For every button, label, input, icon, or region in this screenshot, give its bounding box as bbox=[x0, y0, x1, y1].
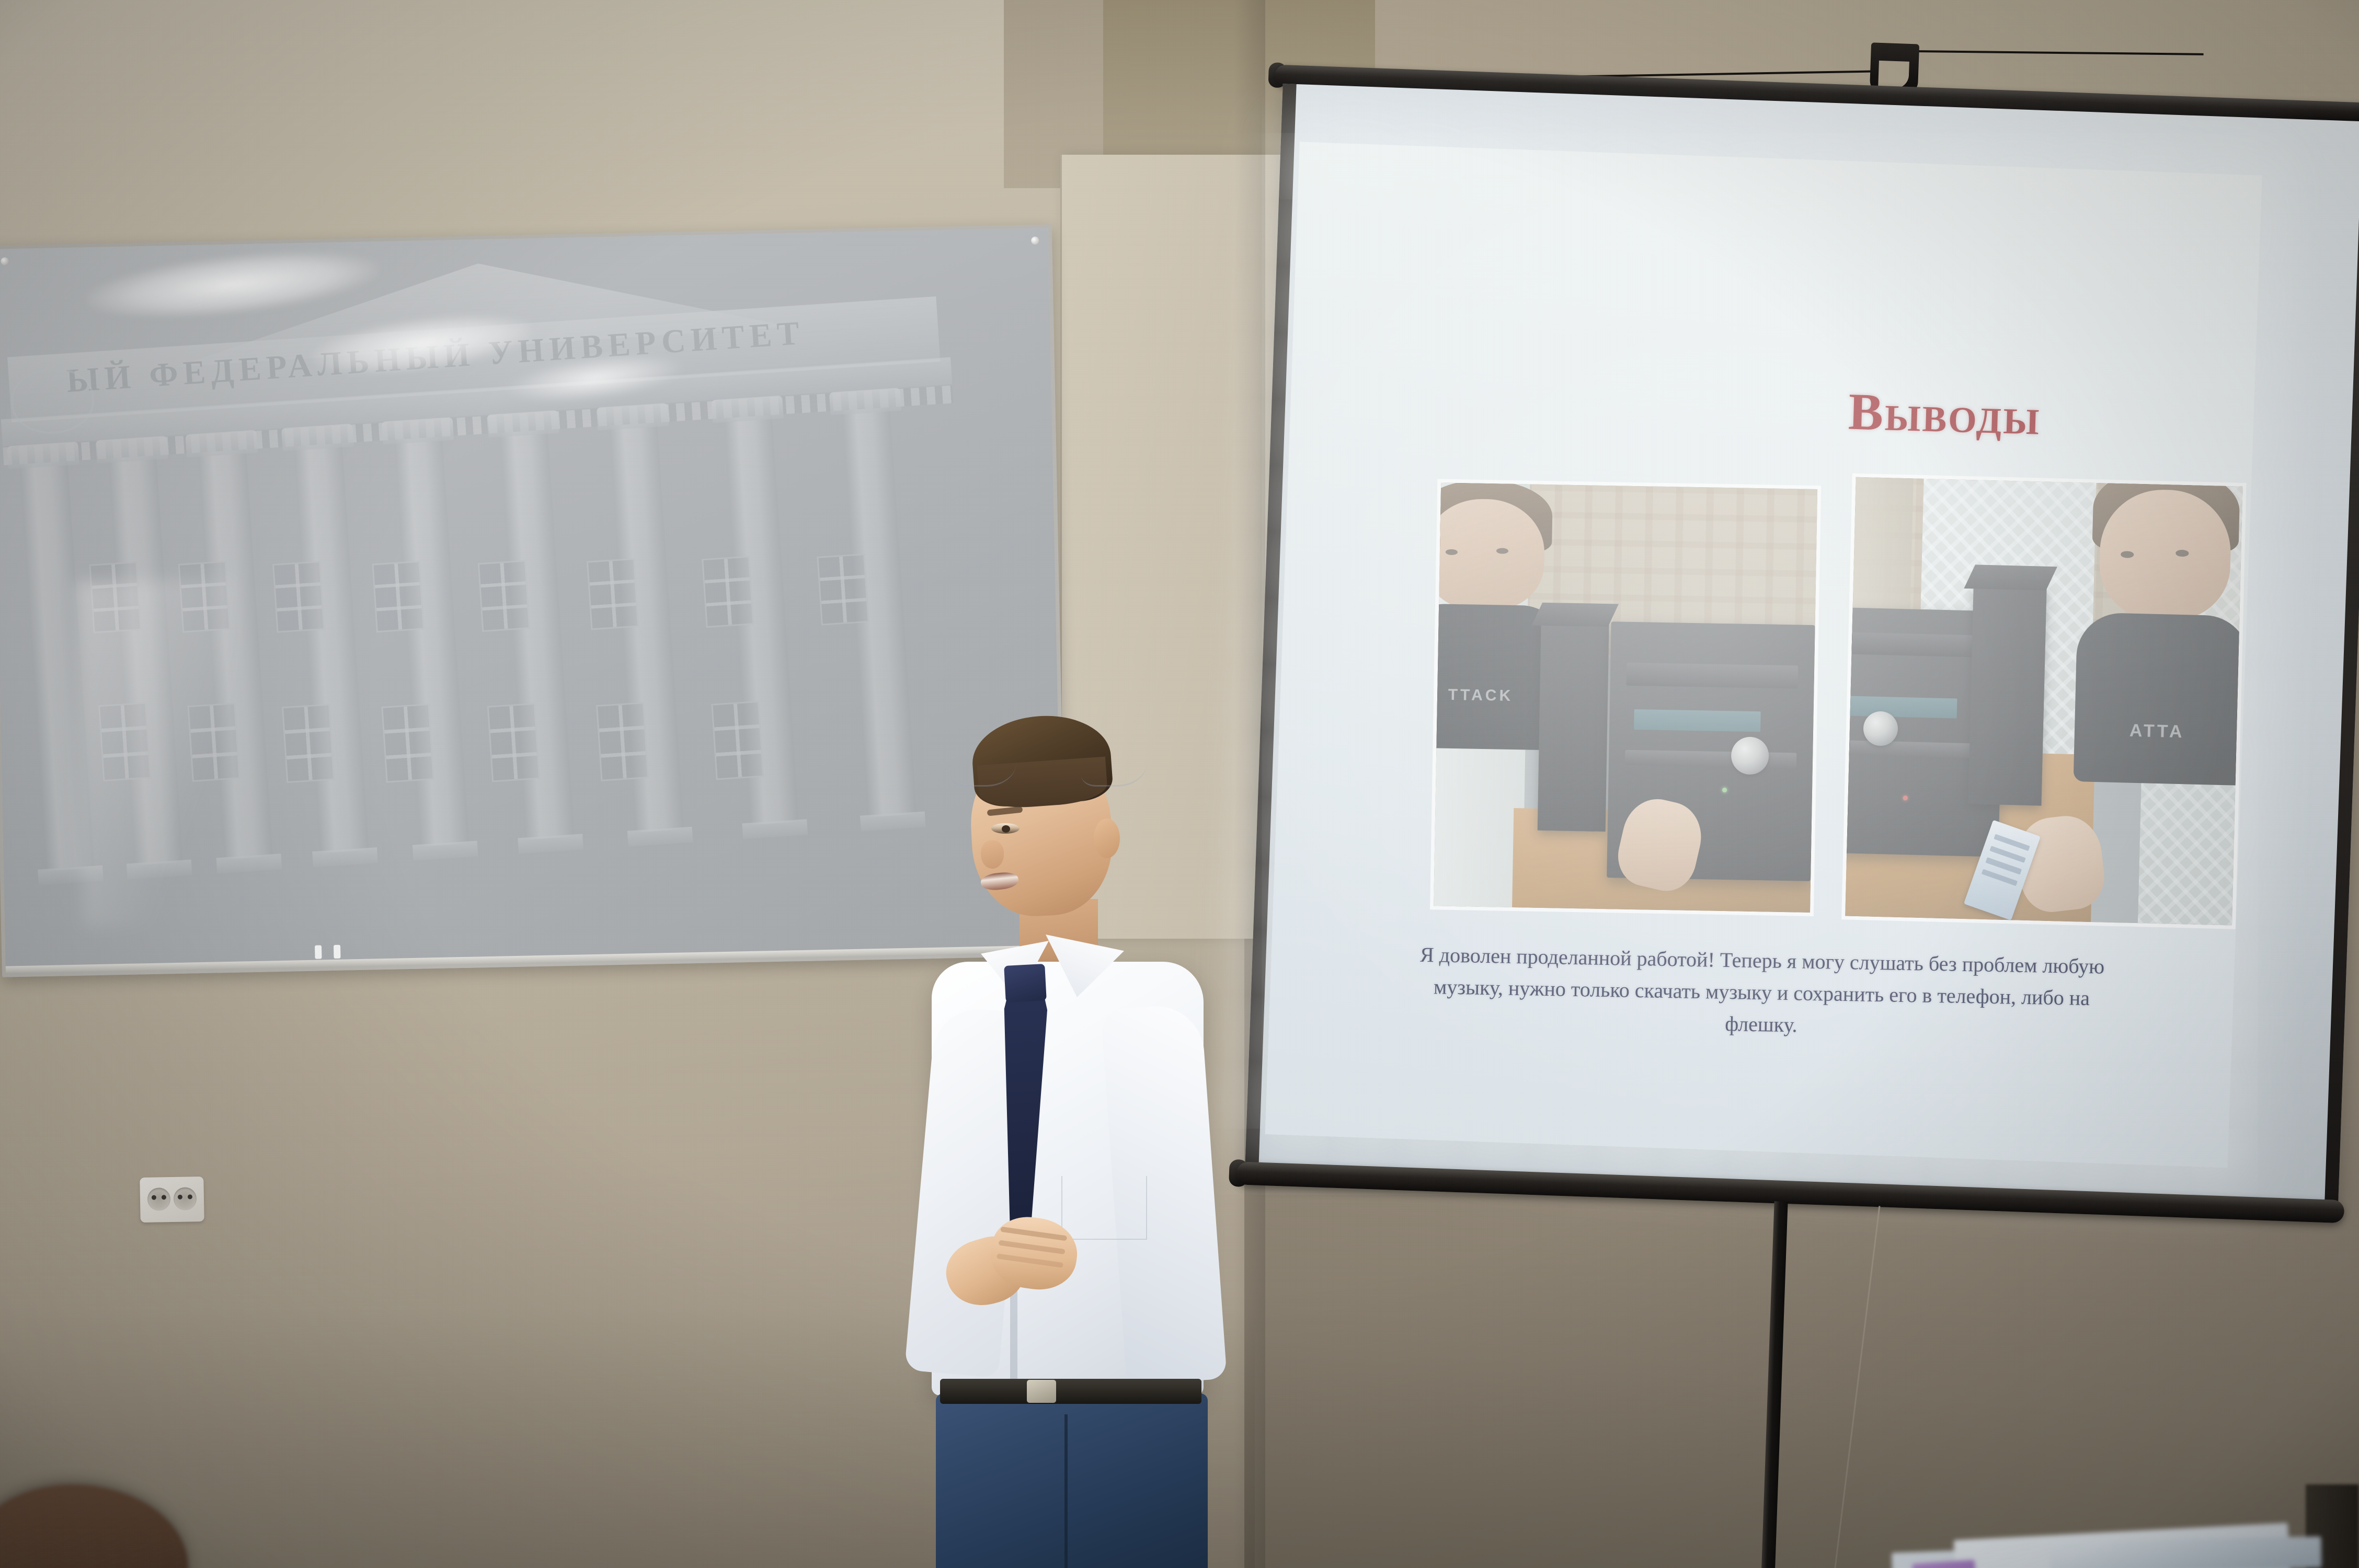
photo-stereo-knob bbox=[1731, 736, 1769, 775]
window bbox=[587, 558, 639, 630]
slide-photo-left: TTACK bbox=[1434, 482, 1817, 912]
window bbox=[478, 560, 530, 632]
presenter-eye bbox=[991, 823, 1020, 834]
photo-boy-eye bbox=[1446, 549, 1458, 555]
window bbox=[272, 561, 325, 633]
projected-slide: Выводы bbox=[1265, 142, 2262, 1168]
window bbox=[817, 554, 869, 626]
slide-photo-right: ATTA bbox=[1845, 477, 2242, 926]
window bbox=[711, 701, 764, 780]
socket-outlet[interactable] bbox=[147, 1187, 171, 1211]
presenter bbox=[889, 716, 1223, 1568]
presenter-ear bbox=[1094, 818, 1120, 858]
photo-stereo-panel bbox=[1845, 740, 1987, 758]
photo-stereo-led bbox=[1722, 788, 1727, 792]
photo-boy-eye bbox=[2175, 550, 2189, 557]
glare-highlight bbox=[76, 579, 240, 927]
column bbox=[294, 443, 369, 853]
presenter-jeans-pocket bbox=[1081, 735, 1147, 787]
presenter-belt bbox=[940, 1379, 1201, 1404]
photo-stereo-display bbox=[1850, 696, 1957, 719]
presenter-nose bbox=[981, 840, 1004, 869]
photo-boy-eye bbox=[1496, 548, 1508, 554]
window bbox=[372, 561, 424, 633]
presenter-tie-knot bbox=[1004, 964, 1047, 1002]
photo-boy-shirt-text: ATTA bbox=[2129, 720, 2185, 742]
paper-sheet bbox=[2049, 1536, 2322, 1568]
power-socket[interactable] bbox=[140, 1177, 204, 1223]
presenter-belt-buckle bbox=[1027, 1380, 1056, 1403]
photo-boy-head bbox=[2098, 488, 2232, 621]
slide-title: Выводы bbox=[1462, 371, 2359, 457]
photo-stereo-led bbox=[1903, 795, 1908, 800]
presenter-jeans-pocket bbox=[951, 735, 1016, 787]
photo-speaker bbox=[1968, 584, 2047, 805]
window bbox=[487, 703, 540, 782]
slide-photo-row: TTACK bbox=[1430, 460, 2245, 927]
photo-boy-torso bbox=[2074, 612, 2243, 786]
photo-stereo-display bbox=[1634, 709, 1760, 732]
whiteboard-magnet[interactable] bbox=[334, 945, 341, 959]
photo-stereo-panel bbox=[1627, 663, 1798, 689]
photo-stereo-panel bbox=[1625, 750, 1796, 768]
photo-boy: TTACK bbox=[1434, 498, 1545, 741]
presenter-jeans bbox=[936, 1393, 1208, 1568]
screen-cloth: Выводы bbox=[1245, 84, 2359, 1206]
foreground-papers bbox=[1893, 1511, 2359, 1568]
window bbox=[381, 704, 434, 783]
photo-boy-eye bbox=[2121, 551, 2134, 558]
column bbox=[394, 436, 469, 846]
socket-outlet[interactable] bbox=[174, 1187, 197, 1210]
photo-boy: ATTA bbox=[2094, 488, 2232, 774]
whiteboard-magnet[interactable] bbox=[315, 945, 322, 959]
photo-stereo-panel bbox=[1845, 632, 1990, 658]
slide-body-text: Я доволен проделанной работой! Теперь я … bbox=[1400, 939, 2123, 1046]
photo-boy-shirt-text: TTACK bbox=[1448, 686, 1513, 705]
window bbox=[596, 702, 649, 781]
window bbox=[702, 556, 754, 628]
projector-screen: Выводы bbox=[1254, 50, 2359, 1304]
photo-speaker bbox=[1538, 621, 1609, 832]
presenter-shirt-pocket bbox=[1061, 1176, 1147, 1240]
window bbox=[282, 704, 335, 783]
classroom-presentation-photo: ЫЙ ФЕДЕРАЛЬНЫЙ УНИВЕРСИТЕТ bbox=[0, 0, 2359, 1568]
